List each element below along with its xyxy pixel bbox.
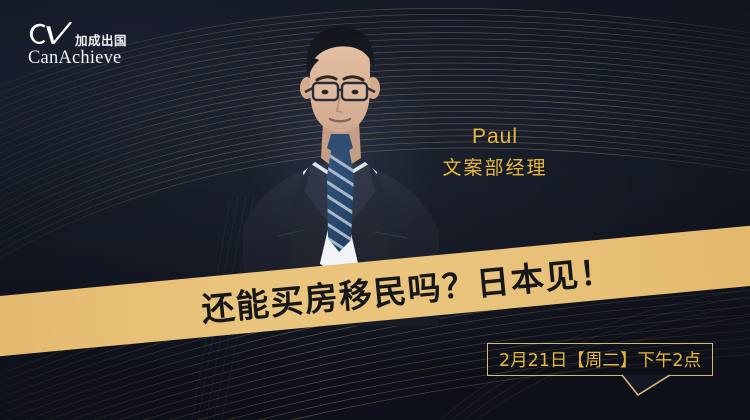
speaker-title: 文案部经理 bbox=[415, 155, 575, 183]
logo-chinese-name: 加成出国 bbox=[75, 35, 127, 48]
schedule-badge-tail-icon bbox=[620, 374, 690, 398]
canachieve-monogram-icon bbox=[27, 22, 73, 48]
speaker-name: Paul bbox=[415, 124, 575, 150]
logo-english-name: CanAchieve bbox=[28, 49, 145, 68]
brand-logo[interactable]: 加成出国 CanAchieve bbox=[27, 22, 145, 70]
schedule-badge[interactable]: 2月21日【周二】下午2点 bbox=[487, 343, 713, 376]
webinar-poster: 还能买房移民吗？日本见！ 加成出国 CanAchieve Paul 文案部经理 … bbox=[0, 0, 750, 420]
schedule-badge-text: 2月21日【周二】下午2点 bbox=[499, 347, 701, 372]
speaker-info: Paul 文案部经理 bbox=[415, 124, 575, 183]
